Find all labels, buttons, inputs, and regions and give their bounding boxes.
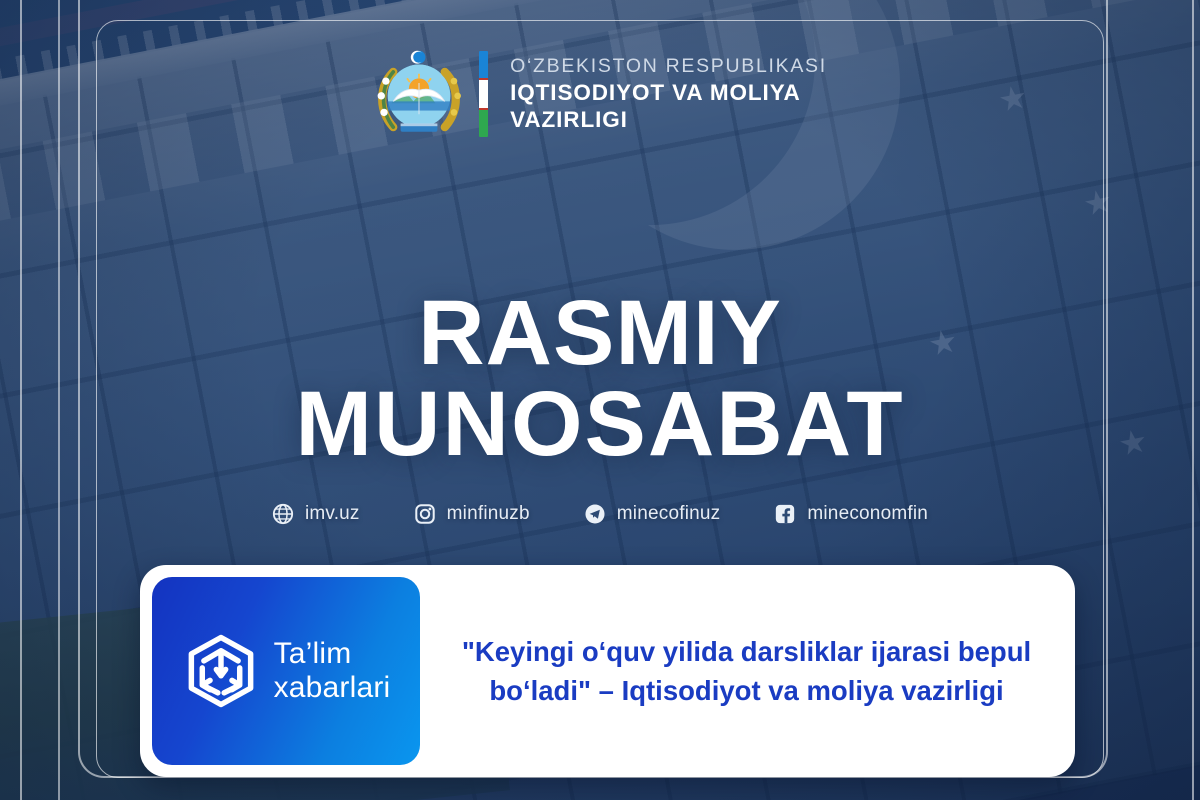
talim-xabarlari-badge[interactable]: Ta’lim xabarlari (152, 577, 420, 765)
news-headline: "Keyingi o‘quv yilida darsliklar ijarasi… (432, 565, 1075, 777)
globe-icon (272, 503, 294, 525)
facebook-icon (774, 503, 796, 525)
social-link-instagram[interactable]: minfinuzb (414, 503, 530, 525)
instagram-icon (414, 503, 436, 525)
ministry-title-line-2: VAZIRLIGI (510, 106, 827, 133)
badge-label-line-2: xabarlari (274, 671, 391, 705)
news-card: Ta’lim xabarlari "Keyingi o‘quv yilida d… (140, 565, 1075, 777)
badge-label-block: Ta’lim xabarlari (274, 637, 391, 705)
poster-root: O‘ZBEKISTON RESPUBLIKASI IQTISODIYOT VA … (0, 0, 1200, 800)
ministry-title-line-1: IQTISODIYOT VA MOLIYA (510, 79, 827, 106)
news-headline-line-1: "Keyingi o‘quv yilida darsliklar ijarasi… (462, 636, 1031, 667)
badge-label-line-1: Ta’lim (274, 637, 391, 671)
social-links-row: imv.uz minfinuzb minecofinuz mineconomfi… (0, 503, 1200, 525)
title-line-1: RASMIY (418, 282, 782, 384)
social-link-telegram[interactable]: minecofinuz (584, 503, 721, 525)
social-label-telegram: minecofinuz (617, 503, 721, 525)
social-link-website[interactable]: imv.uz (272, 503, 360, 525)
ministry-header: O‘ZBEKISTON RESPUBLIKASI IQTISODIYOT VA … (0, 48, 1200, 140)
uzbekistan-flag-bar-icon (479, 51, 488, 137)
social-label-facebook: mineconomfin (807, 503, 928, 525)
social-label-website: imv.uz (305, 503, 360, 525)
social-link-facebook[interactable]: mineconomfin (774, 503, 928, 525)
uzbekistan-state-emblem-icon (373, 48, 465, 140)
news-headline-line-2: bo‘ladi" – Iqtisodiyot va moliya vazirli… (489, 675, 1003, 706)
ministry-country-label: O‘ZBEKISTON RESPUBLIKASI (510, 54, 827, 78)
talim-cube-logo-icon (182, 632, 260, 710)
page-title: RASMIY MUNOSABAT (0, 288, 1200, 470)
title-line-2: MUNOSABAT (0, 379, 1200, 470)
social-label-instagram: minfinuzb (447, 503, 530, 525)
telegram-icon (584, 503, 606, 525)
ministry-name-block: O‘ZBEKISTON RESPUBLIKASI IQTISODIYOT VA … (510, 54, 827, 133)
